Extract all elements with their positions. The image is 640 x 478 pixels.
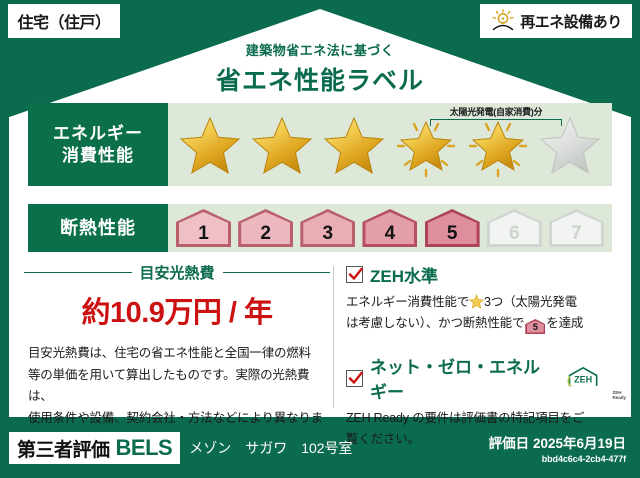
energy-performance-label-box: エネルギー 消費性能 — [28, 103, 168, 186]
renewable-equipment-label: 再エネ設備あり — [520, 11, 622, 32]
energy-performance-row: エネルギー 消費性能 太陽光発電(自家消費)分 — [28, 103, 612, 186]
utility-cost-heading-label: 目安光熱費 — [140, 262, 215, 283]
net-zero-energy-heading: ネット・ゼロ・エネルギー ZEH ZEH Ready — [346, 353, 626, 403]
insulation-grade-5: 5 — [425, 209, 480, 247]
grade-number: 3 — [323, 223, 334, 245]
evaluation-date-value: 2025年6月19日 — [533, 436, 626, 451]
utility-cost-heading: 目安光熱費 — [24, 262, 330, 283]
inline-grade-number: 5 — [525, 319, 545, 336]
grade-5-badge-icon: 5 — [525, 319, 545, 334]
star-2 — [248, 112, 316, 178]
insulation-grade-scale: 1 2 3 4 5 — [168, 204, 612, 252]
zeh-standard-heading: ZEH水準 — [346, 262, 626, 287]
insulation-grade-2: 2 — [238, 209, 293, 247]
utility-cost-value: 約10.9万円 / 年 — [24, 289, 330, 331]
bels-en-label: BELS — [116, 435, 173, 461]
insulation-performance-row: 断熱性能 1 2 3 4 — [28, 204, 612, 252]
grade-number: 7 — [571, 223, 582, 245]
label-title: 建築物省エネ法に基づく 省エネ性能ラベル — [0, 40, 640, 97]
grade-number: 4 — [385, 223, 396, 245]
insulation-label: 断熱性能 — [60, 217, 136, 240]
building-name: メゾン サガワ 102号室 — [189, 438, 352, 458]
star-icon — [469, 294, 484, 309]
heading-rule-right — [223, 272, 331, 274]
grade-number: 5 — [447, 223, 458, 245]
zeh-standard-block: ZEH水準 エネルギー消費性能で3つ（太陽光発電 は考慮しない）、かつ断熱性能で… — [346, 262, 626, 334]
utility-cost-note-line1: 目安光熱費は、住宅の省エネ性能と全国一律の燃料 — [28, 343, 326, 365]
zeh-logo-icon: ZEH — [565, 366, 605, 390]
grade-number: 6 — [509, 223, 520, 245]
sun-icon — [490, 8, 516, 34]
heading-rule-left — [24, 272, 132, 274]
energy-label-line2: 消費性能 — [62, 145, 134, 166]
star-3 — [320, 112, 388, 178]
footer-bar: 第三者評価 BELS メゾン サガワ 102号室 評価日 2025年6月19日 … — [0, 418, 640, 478]
zeh-body-part3: は考慮しない）、かつ断熱性能で — [346, 316, 524, 330]
utility-cost-note-line2: 等の単価を用いて算出したものです。実際の光熱費は、 — [28, 365, 326, 408]
energy-label-line1: エネルギー — [53, 123, 143, 144]
grade-number: 1 — [198, 223, 209, 245]
checkbox-checked-icon — [346, 370, 363, 387]
bels-certification-badge: 第三者評価 BELS — [9, 432, 180, 464]
insulation-grade-4: 4 — [362, 209, 417, 247]
insulation-grade-1: 1 — [176, 209, 231, 247]
zeh-standard-title: ZEH水準 — [370, 262, 438, 287]
house-type-tag-label: 住宅（住戸） — [17, 9, 110, 33]
energy-performance-label: 住宅（住戸） 再エネ設備あり 建築物省エネ法に基づく 省エネ性能ラベル — [0, 0, 640, 478]
evaluation-id: bbd4c6c4-2cb4-477f — [489, 454, 626, 464]
svg-text:ZEH: ZEH — [574, 374, 592, 384]
zeh-ready-sublabel: ZEH Ready — [612, 391, 626, 403]
solar-generation-annotation: 太陽光発電(自家消費)分 — [426, 105, 566, 126]
solar-annotation-label: 太陽光発電(自家消費)分 — [426, 105, 566, 118]
title-subtitle: 建築物省エネ法に基づく — [0, 40, 640, 59]
insulation-grade-3: 3 — [300, 209, 355, 247]
checkbox-checked-icon — [346, 266, 363, 283]
zeh-body-part1: エネルギー消費性能で — [346, 295, 469, 309]
star-rating-area: 太陽光発電(自家消費)分 — [168, 103, 612, 186]
zeh-body-part4: を達成 — [546, 316, 583, 330]
solar-annotation-bracket — [430, 119, 562, 126]
column-divider — [333, 266, 334, 408]
zeh-body-part2: 3つ（太陽光発電 — [484, 295, 577, 309]
grade-number: 2 — [260, 223, 271, 245]
bels-jp-label: 第三者評価 — [17, 435, 110, 462]
net-zero-energy-title: ネット・ゼロ・エネルギー — [370, 353, 555, 403]
title-main: 省エネ性能ラベル — [0, 61, 640, 97]
insulation-grade-7: 7 — [549, 209, 604, 247]
insulation-grade-6: 6 — [487, 209, 542, 247]
house-type-tag: 住宅（住戸） — [8, 4, 120, 38]
evaluation-date-label: 評価日 — [489, 436, 530, 451]
star-1 — [176, 112, 244, 178]
zeh-standard-body: エネルギー消費性能で3つ（太陽光発電 は考慮しない）、かつ断熱性能で5を達成 — [346, 292, 626, 334]
insulation-performance-label-box: 断熱性能 — [28, 204, 168, 252]
renewable-equipment-badge: 再エネ設備あり — [480, 4, 632, 38]
evaluation-info: 評価日 2025年6月19日 bbd4c6c4-2cb4-477f — [489, 432, 626, 464]
evaluation-date: 評価日 2025年6月19日 — [489, 432, 626, 452]
zeh-ready-line2: Ready — [612, 395, 626, 400]
